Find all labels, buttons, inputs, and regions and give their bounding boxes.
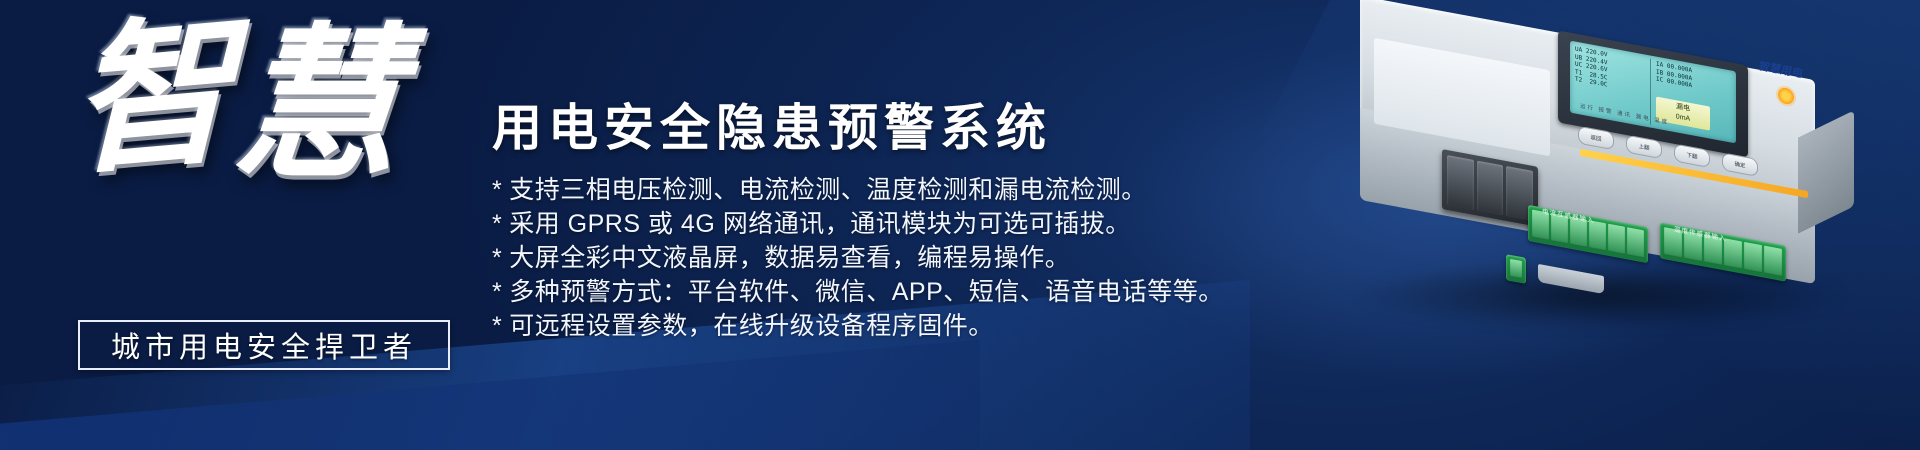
bullet-text: 大屏全彩中文液晶屏，数据易查看，编程易操作。 bbox=[509, 244, 1070, 272]
list-item: *大屏全彩中文液晶屏，数据易查看，编程易操作。 bbox=[492, 244, 1224, 274]
product-image-din-rail-monitor: UA 220.0V UB 220.4V UC 220.6V T1 28.5C T… bbox=[1330, 20, 1890, 350]
list-item: *支持三相电压检测、电流检测、温度检测和漏电流检测。 bbox=[492, 176, 1224, 206]
terminal-block-aux bbox=[1506, 254, 1526, 284]
bullet-text: 可远程设置参数，在线升级设备程序固件。 bbox=[509, 312, 994, 340]
bullet-marker: * bbox=[492, 278, 502, 306]
calligraphy-char-2: 慧 bbox=[228, 26, 416, 184]
lcd-current-readout: IA 00.000A IB 00.000A IC 00.000A bbox=[1656, 61, 1692, 90]
bullet-marker: * bbox=[492, 244, 502, 272]
calligraphy-logo: 智慧 bbox=[62, 11, 458, 314]
feature-list: *支持三相电压检测、电流检测、温度检测和漏电流检测。 *采用 GPRS 或 4G… bbox=[492, 176, 1224, 346]
list-item: *可远程设置参数，在线升级设备程序固件。 bbox=[492, 312, 1224, 342]
tagline-text: 城市用电安全捍卫者 bbox=[111, 324, 417, 366]
terminal-screw bbox=[1510, 259, 1522, 279]
terminal-screw bbox=[1608, 224, 1625, 255]
lcd-voltage-readout: UA 220.0V UB 220.4V UC 220.6V T1 28.5C T… bbox=[1575, 46, 1608, 90]
bullet-marker: * bbox=[492, 210, 502, 238]
device-button-back: 返回 bbox=[1578, 126, 1614, 151]
list-item: *采用 GPRS 或 4G 网络通讯，通讯模块为可选可插拔。 bbox=[492, 210, 1224, 240]
bullet-text: 支持三相电压检测、电流检测、温度检测和漏电流检测。 bbox=[509, 176, 1147, 204]
list-item: *多种预警方式：平台软件、微信、APP、短信、语音电话等等。 bbox=[492, 278, 1224, 308]
connector-pin bbox=[1447, 155, 1474, 210]
connector-pin bbox=[1477, 161, 1504, 216]
terminal-screw bbox=[1744, 242, 1762, 273]
device-button-ok: 确定 bbox=[1722, 152, 1758, 177]
bullet-marker: * bbox=[492, 312, 502, 340]
page-title: 用电安全隐患预警系统 bbox=[492, 88, 1052, 160]
calligraphy-char-1: 智 bbox=[71, 13, 241, 180]
promo-banner: 智慧 城市用电安全捍卫者 用电安全隐患预警系统 *支持三相电压检测、电流检测、温… bbox=[0, 0, 1920, 450]
bullet-text: 采用 GPRS 或 4G 网络通讯，通讯模块为可选可插拔。 bbox=[509, 210, 1130, 238]
bullet-marker: * bbox=[492, 176, 502, 204]
terminal-screw bbox=[1627, 227, 1644, 258]
device-button-up: 上翻 bbox=[1626, 135, 1662, 160]
terminal-screw bbox=[1764, 246, 1782, 277]
terminal-screw bbox=[1589, 220, 1606, 251]
device-button-down: 下翻 bbox=[1674, 143, 1710, 168]
tagline-box: 城市用电安全捍卫者 bbox=[78, 320, 450, 370]
bullet-text: 多种预警方式：平台软件、微信、APP、短信、语音电话等等。 bbox=[509, 278, 1224, 306]
